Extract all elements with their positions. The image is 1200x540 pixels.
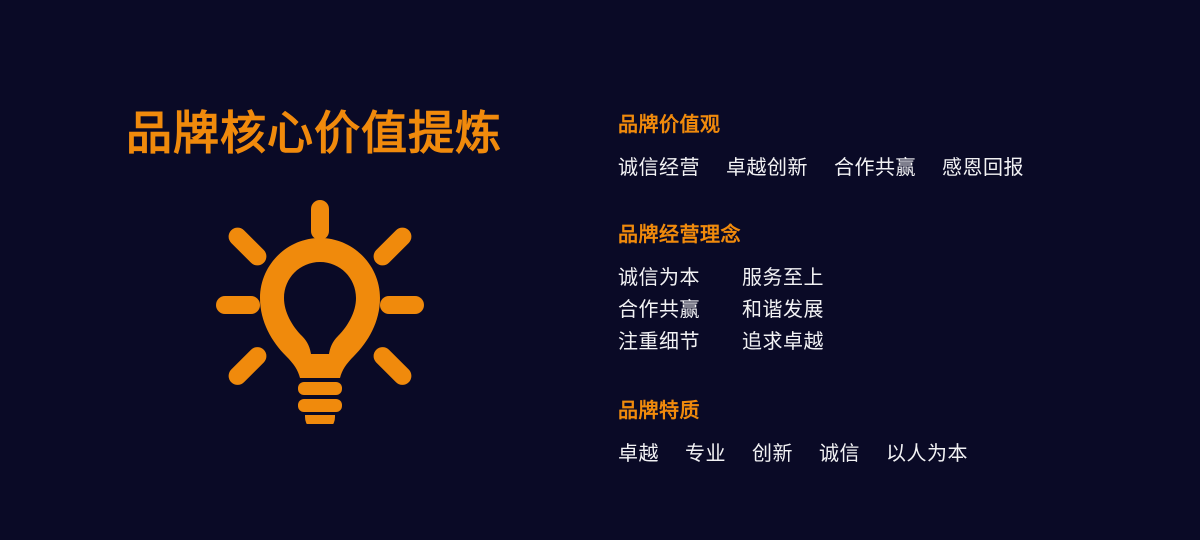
lightbulb-icon <box>212 196 428 424</box>
section-brand-philosophy: 品牌经营理念 诚信为本 服务至上 合作共赢 和谐发展 注重细节 追求卓越 <box>618 222 1178 358</box>
list-item: 感恩回报 <box>942 152 1024 184</box>
list-item: 专业 <box>685 438 726 470</box>
list-item: 创新 <box>752 438 793 470</box>
section-brand-values: 品牌价值观 诚信经营 卓越创新 合作共赢 感恩回报 <box>618 112 1178 184</box>
slide-canvas: 品牌核心价值提炼 <box>0 0 1200 540</box>
list-item: 诚信为本 服务至上 <box>618 262 1178 294</box>
list-item: 诚信 <box>819 438 860 470</box>
section-brand-traits: 品牌特质 卓越 专业 创新 诚信 以人为本 <box>618 398 1178 470</box>
section-heading-brand-philosophy: 品牌经营理念 <box>618 222 1178 248</box>
section-heading-brand-traits: 品牌特质 <box>618 398 1178 424</box>
list-item: 合作共赢 和谐发展 <box>618 294 1178 326</box>
philosophy-cell-right: 和谐发展 <box>742 294 824 326</box>
philosophy-cell-left: 合作共赢 <box>618 294 742 326</box>
list-item: 诚信经营 <box>618 152 700 184</box>
brand-philosophy-list: 诚信为本 服务至上 合作共赢 和谐发展 注重细节 追求卓越 <box>618 262 1178 358</box>
section-heading-brand-values: 品牌价值观 <box>618 112 1178 138</box>
philosophy-cell-right: 追求卓越 <box>742 326 824 358</box>
list-item: 卓越创新 <box>726 152 808 184</box>
list-item: 合作共赢 <box>834 152 916 184</box>
right-panel: 品牌价值观 诚信经营 卓越创新 合作共赢 感恩回报 品牌经营理念 诚信为本 服务… <box>618 0 1178 540</box>
philosophy-cell-left: 诚信为本 <box>618 262 742 294</box>
list-item: 以人为本 <box>886 438 968 470</box>
brand-traits-list: 卓越 专业 创新 诚信 以人为本 <box>618 438 1178 470</box>
list-item: 注重细节 追求卓越 <box>618 326 1178 358</box>
brand-values-list: 诚信经营 卓越创新 合作共赢 感恩回报 <box>618 152 1178 184</box>
list-item: 卓越 <box>618 438 659 470</box>
philosophy-cell-left: 注重细节 <box>618 326 742 358</box>
page-title: 品牌核心价值提炼 <box>126 104 502 162</box>
philosophy-cell-right: 服务至上 <box>742 262 824 294</box>
left-panel: 品牌核心价值提炼 <box>0 0 600 540</box>
